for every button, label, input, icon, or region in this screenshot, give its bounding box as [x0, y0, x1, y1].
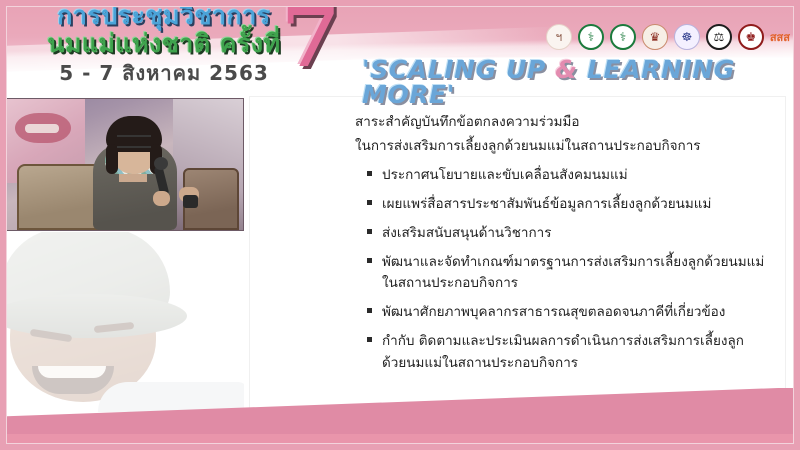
speaker-glasses [117, 135, 151, 148]
speaker-hair-side-left [106, 144, 118, 174]
list-item: ประกาศนโยบายและขับเคลื่อนสังคมนมแม่ [367, 165, 767, 187]
content-heading-line1: สาระสำคัญบันทึกข้อตกลงความร่วมมือ [355, 111, 765, 135]
bullet-square-icon [367, 258, 372, 263]
logo-royal-seal: ฯ [546, 24, 572, 50]
list-item: เผยแพร่สื่อสารประชาสัมพันธ์ข้อมูลการเลี้… [367, 194, 767, 216]
presentation-slide: การประชุมวิชาการ นมแม่แห่งชาติ ครั้งที่ … [0, 0, 800, 450]
bullet-square-icon [367, 308, 372, 313]
tagline-ampersand: & [555, 55, 577, 84]
list-item: พัฒนาและจัดทำเกณฑ์มาตรฐานการส่งเสริมการเ… [367, 252, 767, 296]
bullet-text: พัฒนาศักยภาพบุคลากรสาธารณสุขตลอดจนภาคีที… [382, 304, 725, 320]
logo-garuda-emblem: ☸ [674, 24, 700, 50]
microphone-head [154, 157, 168, 170]
backdrop-mouth-graphic [15, 113, 71, 143]
photo-fade-overlay [6, 232, 244, 412]
bullet-text: ส่งเสริมสนับสนุนด้านวิชาการ [382, 225, 551, 241]
speaker-hand-left [153, 191, 170, 206]
footer-solid-strip [0, 434, 800, 450]
bullet-text: พัฒนาและจัดทำเกณฑ์มาตรฐานการส่งเสริมการเ… [382, 254, 764, 292]
bullet-text: ประกาศนโยบายและขับเคลื่อนสังคมนมแม่ [382, 167, 628, 183]
content-heading: สาระสำคัญบันทึกข้อตกลงความร่วมมือ ในการส… [355, 111, 765, 158]
list-item: พัฒนาศักยภาพบุคลากรสาธารณสุขตลอดจนภาคีที… [367, 302, 767, 324]
bullet-text: กำกับ ติดตามและประเมินผลการดำเนินการส่งเ… [382, 333, 744, 371]
presentation-clicker [183, 195, 198, 208]
speaker-video-feed [6, 98, 244, 231]
bullet-square-icon [367, 337, 372, 342]
slide-content-panel: สาระสำคัญบันทึกข้อตกลงความร่วมมือ ในการส… [249, 96, 786, 416]
list-item: ส่งเสริมสนับสนุนด้านวิชาการ [367, 223, 767, 245]
bullet-square-icon [367, 229, 372, 234]
bullet-square-icon [367, 171, 372, 176]
conference-tagline: 'SCALING UP & LEARNING MORE' [362, 57, 800, 107]
slide-footer-band [0, 388, 800, 450]
chair-left [17, 164, 101, 230]
logo-royal-college: ♚ [738, 24, 764, 50]
conference-title-line1: การประชุมวิชาการ [14, 2, 314, 29]
list-item: กำกับ ติดตามและประเมินผลการดำเนินการส่งเ… [367, 331, 767, 375]
logo-ministry-public-health: ⚕ [578, 24, 604, 50]
sponsor-logo-row: ฯ ⚕ ⚕ ♛ ☸ ⚖ ♚ สสส [546, 24, 790, 50]
child-photo-decoration [6, 232, 244, 412]
logo-health-department: ⚕ [610, 24, 636, 50]
logo-university-seal: ⚖ [706, 24, 732, 50]
logo-crown-emblem: ♛ [642, 24, 668, 50]
content-heading-line2: ในการส่งเสริมการเลี้ยงลูกด้วยนมแม่ในสถาน… [355, 135, 765, 159]
conference-title-line2: นมแม่แห่งชาติ ครั้งที่ [14, 30, 314, 58]
logo-thaihealth: สสส [770, 24, 790, 50]
bullet-text: เผยแพร่สื่อสารประชาสัมพันธ์ข้อมูลการเลี้… [382, 196, 711, 212]
conference-title-block: การประชุมวิชาการ นมแม่แห่งชาติ ครั้งที่ … [14, 2, 314, 84]
bullet-square-icon [367, 200, 372, 205]
conference-date: 5 - 7 สิงหาคม 2563 [14, 62, 314, 84]
content-bullet-list: ประกาศนโยบายและขับเคลื่อนสังคมนมแม่ เผยแ… [367, 165, 767, 382]
